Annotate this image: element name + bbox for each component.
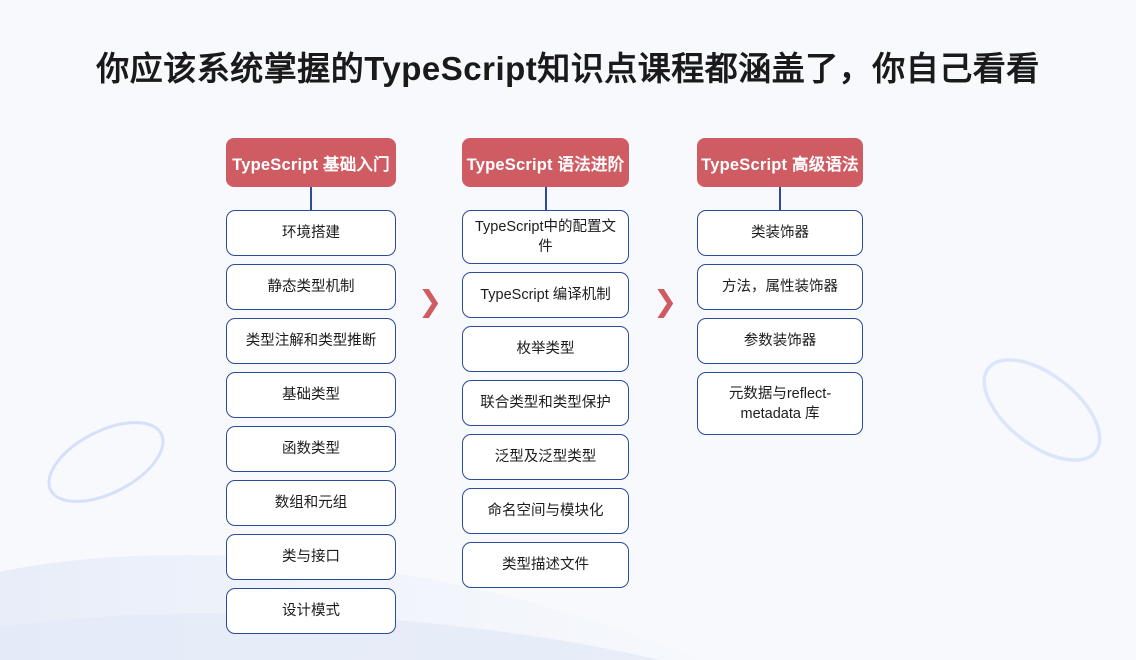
column-header-advanced[interactable]: TypeScript 高级语法 bbox=[697, 138, 863, 187]
topic-card[interactable]: 泛型及泛型类型 bbox=[462, 434, 629, 480]
topic-card[interactable]: 类与接口 bbox=[226, 534, 396, 580]
topic-card[interactable]: 参数装饰器 bbox=[697, 318, 863, 364]
topic-card[interactable]: 类型注解和类型推断 bbox=[226, 318, 396, 364]
topic-card[interactable]: 基础类型 bbox=[226, 372, 396, 418]
topic-card[interactable]: 联合类型和类型保护 bbox=[462, 380, 629, 426]
topic-card[interactable]: 类装饰器 bbox=[697, 210, 863, 256]
topic-card[interactable]: 类型描述文件 bbox=[462, 542, 629, 588]
roadmap-column-basics: TypeScript 基础入门 环境搭建 静态类型机制 类型注解和类型推断 基础… bbox=[226, 138, 396, 634]
card-list-advanced: 类装饰器 方法，属性装饰器 参数装饰器 元数据与reflect-metadata… bbox=[697, 210, 863, 435]
topic-card[interactable]: 函数类型 bbox=[226, 426, 396, 472]
chevron-right-icon: ❯ bbox=[653, 288, 677, 317]
roadmap-column-advanced: TypeScript 高级语法 类装饰器 方法，属性装饰器 参数装饰器 元数据与… bbox=[697, 138, 863, 435]
chevron-right-icon: ❯ bbox=[418, 288, 442, 317]
card-list-basics: 环境搭建 静态类型机制 类型注解和类型推断 基础类型 函数类型 数组和元组 类与… bbox=[226, 210, 396, 634]
topic-card[interactable]: 数组和元组 bbox=[226, 480, 396, 526]
topic-card[interactable]: 环境搭建 bbox=[226, 210, 396, 256]
column-header-basics[interactable]: TypeScript 基础入门 bbox=[226, 138, 396, 187]
card-list-syntax: TypeScript中的配置文件 TypeScript 编译机制 枚举类型 联合… bbox=[462, 210, 629, 588]
topic-card[interactable]: TypeScript中的配置文件 bbox=[462, 210, 629, 264]
topic-card[interactable]: 静态类型机制 bbox=[226, 264, 396, 310]
roadmap-column-syntax: TypeScript 语法进阶 TypeScript中的配置文件 TypeScr… bbox=[462, 138, 629, 588]
topic-card[interactable]: 设计模式 bbox=[226, 588, 396, 634]
column-connector-line bbox=[310, 187, 312, 210]
topic-card[interactable]: TypeScript 编译机制 bbox=[462, 272, 629, 318]
column-header-syntax[interactable]: TypeScript 语法进阶 bbox=[462, 138, 629, 187]
column-connector-line bbox=[545, 187, 547, 210]
topic-card[interactable]: 命名空间与模块化 bbox=[462, 488, 629, 534]
topic-card[interactable]: 元数据与reflect-metadata 库 bbox=[697, 372, 863, 435]
topic-card[interactable]: 枚举类型 bbox=[462, 326, 629, 372]
column-connector-line bbox=[779, 187, 781, 210]
roadmap-board: TypeScript 基础入门 环境搭建 静态类型机制 类型注解和类型推断 基础… bbox=[0, 138, 1136, 638]
topic-card[interactable]: 方法，属性装饰器 bbox=[697, 264, 863, 310]
page-title: 你应该系统掌握的TypeScript知识点课程都涵盖了，你自己看看 bbox=[0, 42, 1136, 90]
